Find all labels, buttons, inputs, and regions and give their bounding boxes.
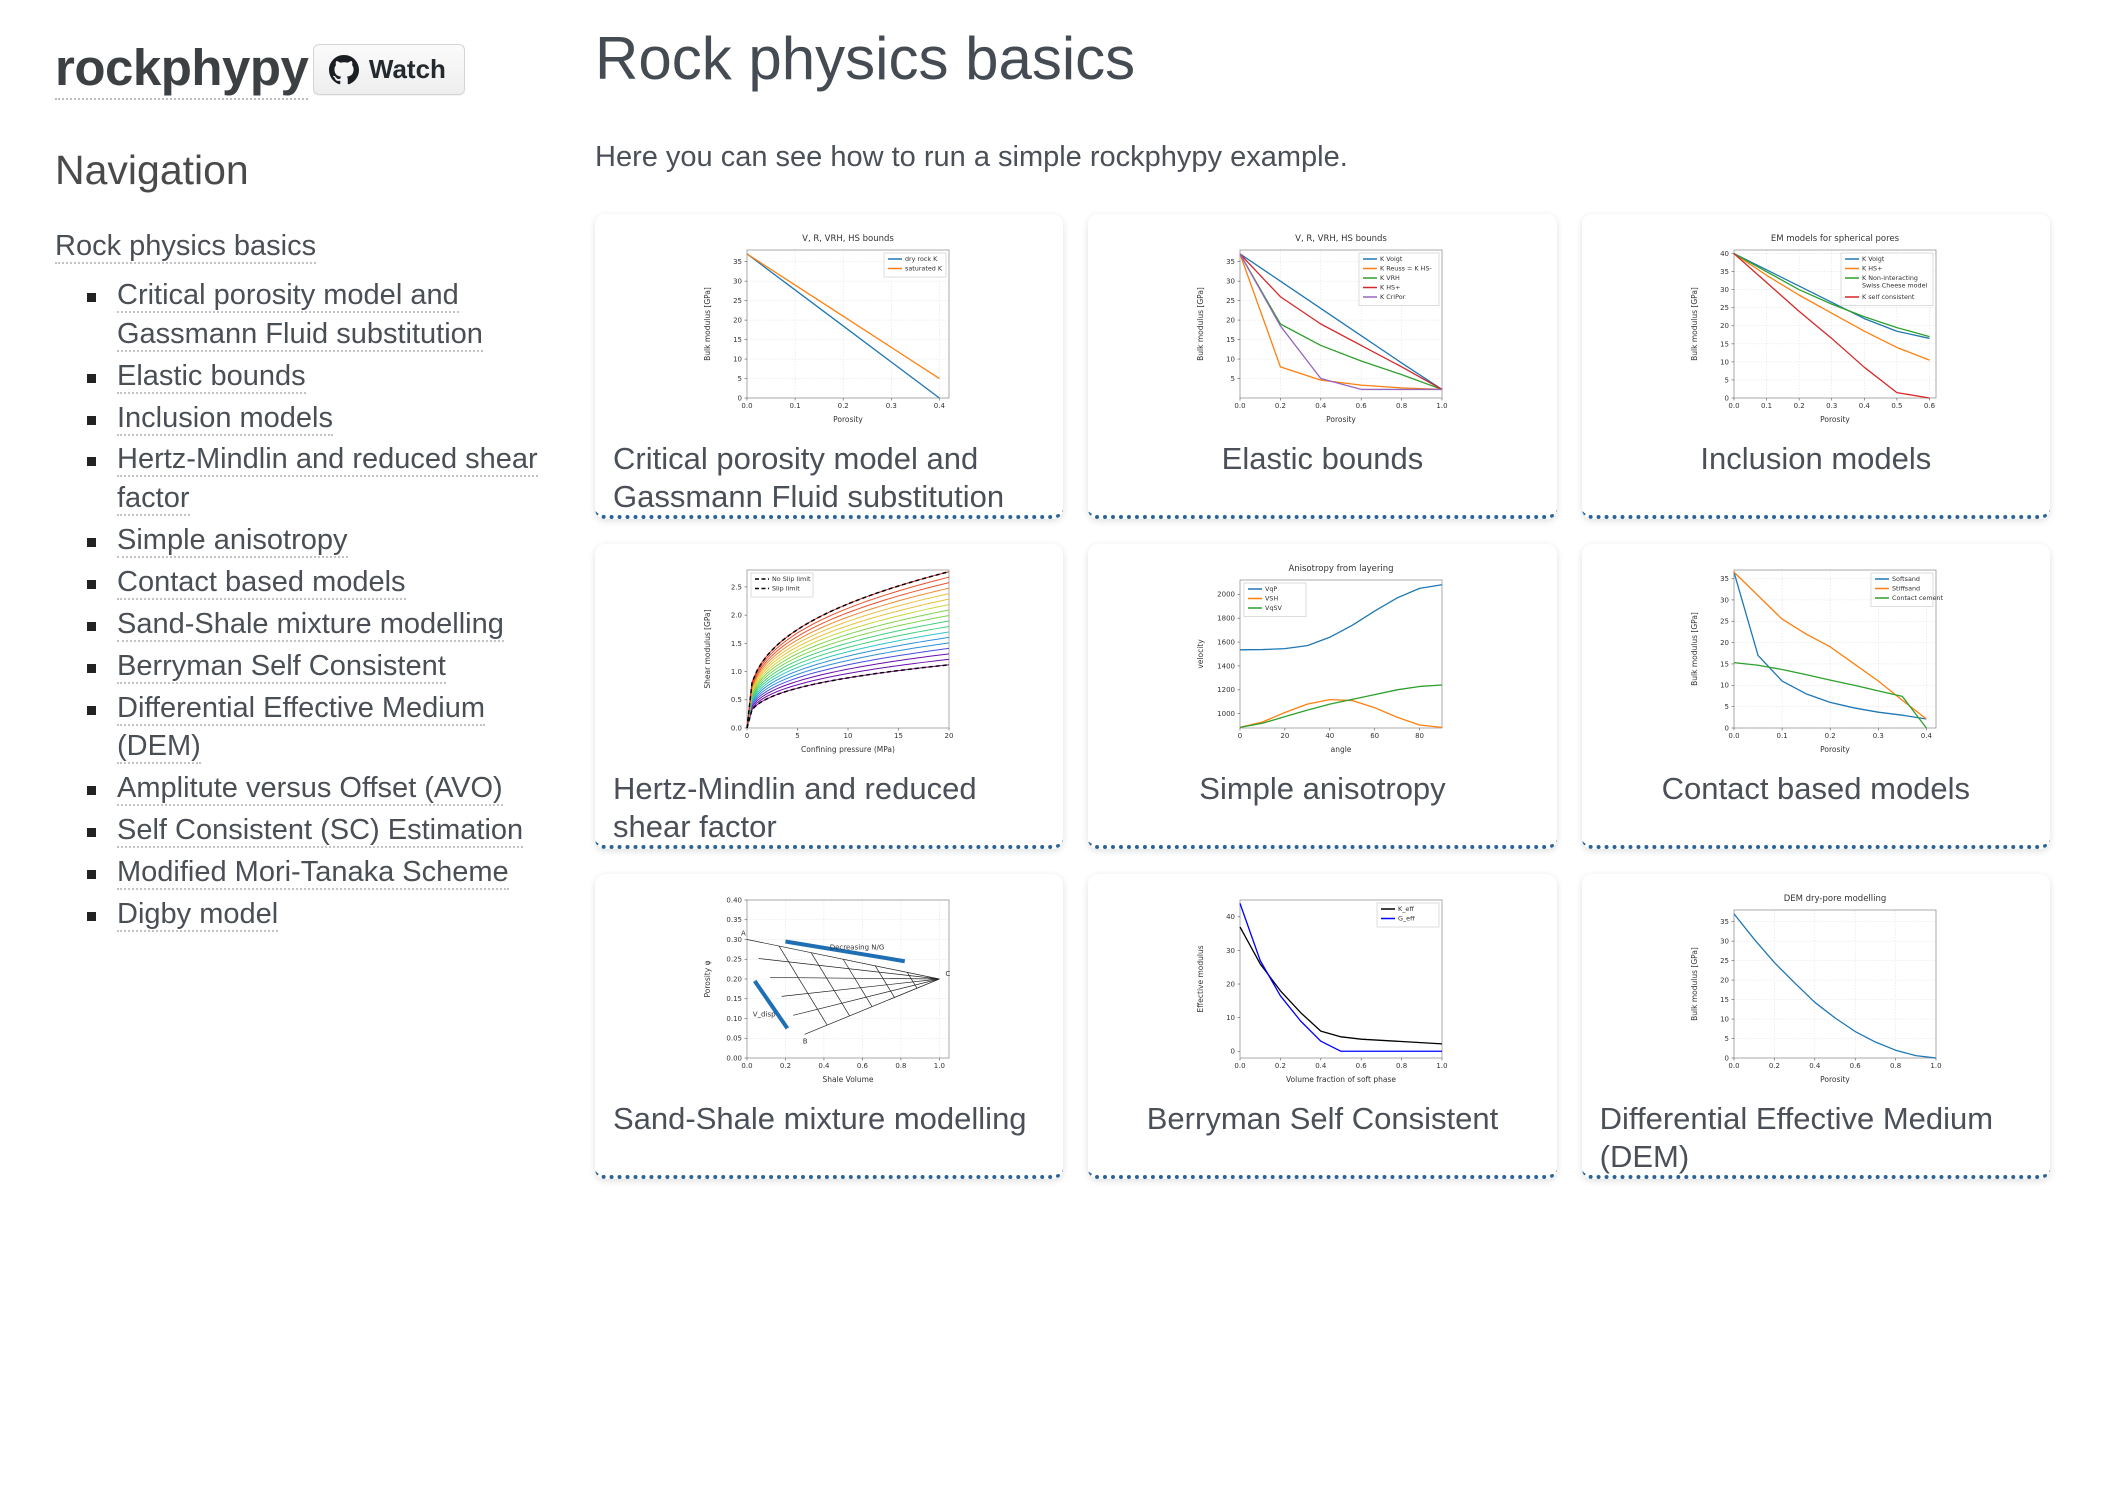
svg-text:VSH: VSH xyxy=(1265,595,1278,603)
svg-text:0.0: 0.0 xyxy=(1728,1062,1739,1070)
svg-text:0.00: 0.00 xyxy=(727,1054,743,1062)
chart-svg: 0.00.20.40.60.81.0010203040Volume fracti… xyxy=(1192,888,1452,1088)
svg-text:20: 20 xyxy=(945,732,954,740)
sidebar: rockphypy Watch Navigation Rock physics … xyxy=(0,0,595,1505)
svg-text:2.0: 2.0 xyxy=(731,612,742,620)
svg-text:0.8: 0.8 xyxy=(1397,402,1408,410)
list-item: Berryman Self Consistent xyxy=(87,647,555,686)
svg-text:0.0: 0.0 xyxy=(1235,402,1246,410)
list-item: Inclusion models xyxy=(87,399,555,438)
card-caption: Berryman Self Consistent xyxy=(1106,1100,1538,1138)
chart-svg: Anisotropy from layering0204060801000120… xyxy=(1192,558,1452,758)
list-item: Hertz-Mindlin and reduced shear factor xyxy=(87,440,555,518)
svg-text:Bulk modulus [GPa]: Bulk modulus [GPa] xyxy=(1690,287,1699,361)
svg-text:0.8: 0.8 xyxy=(1890,1062,1901,1070)
card-thumbnail: DEM dry-pore modelling0.00.20.40.60.81.0… xyxy=(1600,888,2032,1088)
card-caption: Contact based models xyxy=(1600,770,2032,808)
example-card[interactable]: 0.00.20.40.60.81.0010203040Volume fracti… xyxy=(1088,874,1556,1179)
intro-paragraph: Here you can see how to run a simple roc… xyxy=(595,141,2085,174)
svg-text:10: 10 xyxy=(1720,1015,1729,1023)
svg-text:30: 30 xyxy=(1227,278,1236,286)
svg-text:5: 5 xyxy=(1231,375,1235,383)
svg-text:0.0: 0.0 xyxy=(1235,1062,1246,1070)
svg-text:DEM dry-pore modelling: DEM dry-pore modelling xyxy=(1784,894,1887,904)
svg-text:V, R, VRH, HS bounds: V, R, VRH, HS bounds xyxy=(1296,234,1388,244)
svg-text:30: 30 xyxy=(733,278,742,286)
svg-text:30: 30 xyxy=(1227,947,1236,955)
svg-text:0.2: 0.2 xyxy=(838,402,849,410)
svg-text:20: 20 xyxy=(1720,639,1729,647)
svg-text:15: 15 xyxy=(1720,996,1729,1004)
svg-text:Contact cement: Contact cement xyxy=(1892,594,1944,602)
svg-text:C: C xyxy=(946,970,951,978)
svg-text:0.2: 0.2 xyxy=(1275,402,1286,410)
card-caption: Hertz-Mindlin and reduced shear factor xyxy=(613,770,1045,846)
github-watch-button[interactable]: Watch xyxy=(313,44,465,95)
svg-text:35: 35 xyxy=(1720,918,1729,926)
svg-text:0.2: 0.2 xyxy=(1793,402,1804,410)
example-card[interactable]: 0.00.20.40.60.81.00.000.050.100.150.200.… xyxy=(595,874,1063,1179)
svg-text:1200: 1200 xyxy=(1218,686,1236,694)
svg-text:0.4: 0.4 xyxy=(1316,1062,1328,1070)
page-title: Rock physics basics xyxy=(595,24,2085,93)
svg-text:0.25: 0.25 xyxy=(727,956,743,964)
list-item: Differential Effective Medium (DEM) xyxy=(87,689,555,767)
example-card[interactable]: DEM dry-pore modelling0.00.20.40.60.81.0… xyxy=(1582,874,2050,1179)
svg-text:Bulk modulus [GPa]: Bulk modulus [GPa] xyxy=(1690,612,1699,686)
list-item: Digby model xyxy=(87,895,555,934)
svg-text:0.4: 0.4 xyxy=(1809,1062,1821,1070)
svg-text:35: 35 xyxy=(1227,258,1236,266)
svg-text:0.6: 0.6 xyxy=(1356,1062,1368,1070)
chart-svg: 0.00.20.40.60.81.00.000.050.100.150.200.… xyxy=(699,888,959,1088)
card-caption: Critical porosity model and Gassmann Flu… xyxy=(613,440,1045,516)
svg-text:15: 15 xyxy=(894,732,903,740)
list-item: Critical porosity model and Gassmann Flu… xyxy=(87,276,555,354)
chart-svg: EM models for spherical pores0.00.10.20.… xyxy=(1686,228,1946,428)
svg-text:0.1: 0.1 xyxy=(790,402,801,410)
svg-text:0.5: 0.5 xyxy=(731,696,742,704)
svg-text:0: 0 xyxy=(1724,394,1728,402)
svg-text:saturated K: saturated K xyxy=(905,265,943,273)
svg-text:0.2: 0.2 xyxy=(1275,1062,1286,1070)
svg-text:0: 0 xyxy=(745,732,749,740)
svg-text:0.20: 0.20 xyxy=(727,975,743,983)
svg-text:0.6: 0.6 xyxy=(1356,402,1368,410)
svg-text:1.5: 1.5 xyxy=(731,640,742,648)
svg-text:K VRH: K VRH xyxy=(1380,274,1400,282)
main-content: Rock physics basics Here you can see how… xyxy=(595,0,2115,1505)
svg-text:0: 0 xyxy=(738,394,742,402)
svg-text:G_eff: G_eff xyxy=(1398,915,1415,923)
example-card[interactable]: EM models for spherical pores0.00.10.20.… xyxy=(1582,214,2050,519)
navigation-heading: Navigation xyxy=(55,148,555,193)
svg-text:Bulk modulus [GPa]: Bulk modulus [GPa] xyxy=(1690,947,1699,1021)
svg-text:35: 35 xyxy=(1720,575,1729,583)
sidebar-item-contact-based-models[interactable]: Contact based models xyxy=(117,566,406,600)
sidebar-item-critical-porosity-model-and-gassmann-fluid-substitution[interactable]: Critical porosity model and Gassmann Flu… xyxy=(117,279,483,352)
svg-text:Porosity: Porosity xyxy=(1820,745,1850,754)
svg-text:0.40: 0.40 xyxy=(727,896,743,904)
chart-svg: 051015200.00.51.01.52.02.5Confining pres… xyxy=(699,558,959,758)
svg-text:25: 25 xyxy=(1227,297,1236,305)
sidebar-item-simple-anisotropy[interactable]: Simple anisotropy xyxy=(117,524,348,558)
card-thumbnail: V, R, VRH, HS bounds0.00.10.20.30.405101… xyxy=(613,228,1045,428)
svg-text:0.6: 0.6 xyxy=(1924,402,1936,410)
svg-text:Porosity φ: Porosity φ xyxy=(703,960,712,997)
card-caption: Simple anisotropy xyxy=(1106,770,1538,808)
svg-text:2.5: 2.5 xyxy=(731,583,742,591)
svg-text:0.3: 0.3 xyxy=(886,402,897,410)
svg-text:dry rock K: dry rock K xyxy=(905,255,938,263)
svg-text:5: 5 xyxy=(1724,376,1728,384)
svg-text:0.6: 0.6 xyxy=(857,1062,869,1070)
sidebar-item-hertz-mindlin-and-reduced-shear-factor[interactable]: Hertz-Mindlin and reduced shear factor xyxy=(117,443,538,516)
card-thumbnail: V, R, VRH, HS bounds0.00.20.40.60.81.051… xyxy=(1106,228,1538,428)
svg-text:5: 5 xyxy=(1724,703,1728,711)
svg-text:0.4: 0.4 xyxy=(819,1062,831,1070)
svg-text:0.0: 0.0 xyxy=(1728,732,1739,740)
svg-text:10: 10 xyxy=(1227,1014,1236,1022)
chart-svg: 0.00.10.20.30.405101520253035PorosityBul… xyxy=(1686,558,1946,758)
svg-text:0.5: 0.5 xyxy=(1891,402,1902,410)
svg-text:40: 40 xyxy=(1720,250,1729,258)
sidebar-item-differential-effective-medium-dem[interactable]: Differential Effective Medium (DEM) xyxy=(117,692,485,765)
svg-text:Shear modulus [GPa]: Shear modulus [GPa] xyxy=(703,609,712,688)
svg-text:0.0: 0.0 xyxy=(742,1062,753,1070)
svg-text:0.6: 0.6 xyxy=(1849,1062,1861,1070)
svg-text:0.8: 0.8 xyxy=(895,1062,906,1070)
card-thumbnail: 0.00.10.20.30.405101520253035PorosityBul… xyxy=(1600,558,2032,758)
svg-text:35: 35 xyxy=(733,258,742,266)
svg-text:5: 5 xyxy=(795,732,799,740)
svg-text:K HS+: K HS+ xyxy=(1862,265,1882,273)
svg-text:10: 10 xyxy=(1720,358,1729,366)
svg-text:Slip limit: Slip limit xyxy=(772,585,800,593)
sidebar-item-berryman-self-consistent[interactable]: Berryman Self Consistent xyxy=(117,650,446,684)
svg-text:25: 25 xyxy=(1720,304,1729,312)
svg-text:0: 0 xyxy=(1238,732,1242,740)
example-card-grid: V, R, VRH, HS bounds0.00.10.20.30.405101… xyxy=(595,214,2050,1179)
svg-text:1.0: 1.0 xyxy=(1437,402,1448,410)
card-thumbnail: EM models for spherical pores0.00.10.20.… xyxy=(1600,228,2032,428)
svg-text:Porosity: Porosity xyxy=(833,415,863,424)
card-thumbnail: 0.00.20.40.60.81.00.000.050.100.150.200.… xyxy=(613,888,1045,1088)
card-caption: Differential Effective Medium (DEM) xyxy=(1600,1100,2032,1176)
svg-text:VqSV: VqSV xyxy=(1265,604,1282,612)
svg-text:0: 0 xyxy=(1724,1054,1728,1062)
svg-text:K Voigt: K Voigt xyxy=(1380,255,1403,263)
svg-text:10: 10 xyxy=(1720,682,1729,690)
svg-text:B: B xyxy=(803,1037,808,1045)
svg-text:0.0: 0.0 xyxy=(731,724,742,732)
svg-text:0.3: 0.3 xyxy=(1873,732,1884,740)
card-caption: Elastic bounds xyxy=(1106,440,1538,478)
example-card[interactable]: V, R, VRH, HS bounds0.00.20.40.60.81.051… xyxy=(1088,214,1556,519)
svg-text:0.1: 0.1 xyxy=(1776,732,1787,740)
site-brand[interactable]: rockphypy xyxy=(55,41,308,101)
sidebar-item-self-consistent-sc-estimation[interactable]: Self Consistent (SC) Estimation xyxy=(117,814,523,848)
svg-text:V, R, VRH, HS bounds: V, R, VRH, HS bounds xyxy=(802,234,894,244)
svg-text:VqP: VqP xyxy=(1265,585,1277,593)
svg-text:15: 15 xyxy=(1720,340,1729,348)
example-card[interactable]: Anisotropy from layering0204060801000120… xyxy=(1088,544,1556,849)
svg-text:5: 5 xyxy=(738,375,742,383)
svg-text:2000: 2000 xyxy=(1218,591,1236,599)
svg-text:0.2: 0.2 xyxy=(1769,1062,1780,1070)
svg-text:0.2: 0.2 xyxy=(1824,732,1835,740)
sidebar-nav-list: Critical porosity model and Gassmann Flu… xyxy=(55,276,555,934)
svg-text:Porosity: Porosity xyxy=(1820,1075,1850,1084)
sidebar-item-sand-shale-mixture-modelling[interactable]: Sand-Shale mixture modelling xyxy=(117,608,504,642)
svg-text:Shale Volume: Shale Volume xyxy=(823,1075,874,1084)
example-card[interactable]: V, R, VRH, HS bounds0.00.10.20.30.405101… xyxy=(595,214,1063,519)
svg-text:0: 0 xyxy=(1724,724,1728,732)
sidebar-item-elastic-bounds[interactable]: Elastic bounds xyxy=(117,360,306,394)
example-card[interactable]: 0.00.10.20.30.405101520253035PorosityBul… xyxy=(1582,544,2050,849)
svg-text:0.10: 0.10 xyxy=(727,1015,743,1023)
card-caption: Sand-Shale mixture modelling xyxy=(613,1100,1045,1138)
svg-text:1.0: 1.0 xyxy=(934,1062,945,1070)
svg-text:15: 15 xyxy=(733,336,742,344)
svg-text:20: 20 xyxy=(1227,317,1236,325)
svg-text:1.0: 1.0 xyxy=(731,668,742,676)
svg-text:0.1: 0.1 xyxy=(1761,402,1772,410)
svg-text:10: 10 xyxy=(844,732,853,740)
svg-text:Porosity: Porosity xyxy=(1820,415,1850,424)
page-root: rockphypy Watch Navigation Rock physics … xyxy=(0,0,2115,1505)
svg-text:1000: 1000 xyxy=(1218,710,1236,718)
svg-text:80: 80 xyxy=(1416,732,1425,740)
svg-text:EM models for spherical pores: EM models for spherical pores xyxy=(1771,234,1900,244)
svg-text:1600: 1600 xyxy=(1218,638,1236,646)
svg-text:20: 20 xyxy=(1281,732,1290,740)
svg-text:0.30: 0.30 xyxy=(727,936,743,944)
card-caption: Inclusion models xyxy=(1600,440,2032,478)
svg-text:K CriPor: K CriPor xyxy=(1380,293,1406,301)
svg-text:15: 15 xyxy=(1720,660,1729,668)
svg-text:0.4: 0.4 xyxy=(934,402,946,410)
svg-text:0.3: 0.3 xyxy=(1826,402,1837,410)
svg-text:25: 25 xyxy=(733,297,742,305)
svg-text:K Voigt: K Voigt xyxy=(1862,255,1885,263)
example-card[interactable]: 051015200.00.51.01.52.02.5Confining pres… xyxy=(595,544,1063,849)
svg-text:35: 35 xyxy=(1720,268,1729,276)
svg-text:20: 20 xyxy=(1720,977,1729,985)
card-thumbnail: 0.00.20.40.60.81.0010203040Volume fracti… xyxy=(1106,888,1538,1088)
svg-text:Volume fraction of soft phase: Volume fraction of soft phase xyxy=(1286,1075,1396,1084)
svg-text:K HS+: K HS+ xyxy=(1380,284,1400,292)
sidebar-item-inclusion-models[interactable]: Inclusion models xyxy=(117,402,333,436)
svg-text:0.0: 0.0 xyxy=(742,402,753,410)
svg-text:0.2: 0.2 xyxy=(780,1062,791,1070)
nav-root-link-wrap: Rock physics basics xyxy=(55,227,555,266)
svg-text:40: 40 xyxy=(1227,913,1236,921)
svg-text:0.4: 0.4 xyxy=(1316,402,1328,410)
svg-text:0.15: 0.15 xyxy=(727,995,743,1003)
svg-text:60: 60 xyxy=(1371,732,1380,740)
svg-text:20: 20 xyxy=(733,317,742,325)
chart-svg: V, R, VRH, HS bounds0.00.10.20.30.405101… xyxy=(699,228,959,428)
svg-text:Anisotropy from layering: Anisotropy from layering xyxy=(1289,564,1394,574)
github-icon xyxy=(329,55,359,85)
svg-text:0.4: 0.4 xyxy=(1859,402,1871,410)
svg-text:No Slip limit: No Slip limit xyxy=(772,575,811,583)
card-thumbnail: 051015200.00.51.01.52.02.5Confining pres… xyxy=(613,558,1045,758)
svg-text:A: A xyxy=(741,930,746,938)
chart-svg: V, R, VRH, HS bounds0.00.20.40.60.81.051… xyxy=(1192,228,1452,428)
svg-text:1800: 1800 xyxy=(1218,615,1236,623)
svg-text:V_disp: V_disp xyxy=(753,1011,776,1019)
svg-text:Effective modulus: Effective modulus xyxy=(1196,945,1205,1012)
svg-text:25: 25 xyxy=(1720,618,1729,626)
svg-text:Bulk modulus [GPa]: Bulk modulus [GPa] xyxy=(703,287,712,361)
svg-text:40: 40 xyxy=(1326,732,1335,740)
svg-text:0.05: 0.05 xyxy=(727,1035,743,1043)
svg-text:5: 5 xyxy=(1724,1035,1728,1043)
list-item: Modified Mori-Tanaka Scheme xyxy=(87,853,555,892)
svg-text:Porosity: Porosity xyxy=(1327,415,1357,424)
svg-text:angle: angle xyxy=(1331,745,1352,754)
list-item: Amplitute versus Offset (AVO) xyxy=(87,769,555,808)
sidebar-item-modified-mori-tanaka-scheme[interactable]: Modified Mori-Tanaka Scheme xyxy=(117,856,509,890)
svg-text:20: 20 xyxy=(1720,322,1729,330)
svg-text:0: 0 xyxy=(1231,1048,1235,1056)
svg-text:0.0: 0.0 xyxy=(1728,402,1739,410)
list-item: Contact based models xyxy=(87,563,555,602)
sidebar-item-rock-physics-basics[interactable]: Rock physics basics xyxy=(55,230,316,264)
svg-text:1.0: 1.0 xyxy=(1437,1062,1448,1070)
svg-text:Bulk modulus [GPa]: Bulk modulus [GPa] xyxy=(1196,287,1205,361)
svg-text:0.8: 0.8 xyxy=(1397,1062,1408,1070)
svg-text:Softsand: Softsand xyxy=(1892,575,1920,583)
list-item: Sand-Shale mixture modelling xyxy=(87,605,555,644)
svg-text:25: 25 xyxy=(1720,957,1729,965)
list-item: Self Consistent (SC) Estimation xyxy=(87,811,555,850)
svg-text:0.4: 0.4 xyxy=(1921,732,1933,740)
svg-text:10: 10 xyxy=(733,355,742,363)
svg-text:10: 10 xyxy=(1227,355,1236,363)
svg-text:K_eff: K_eff xyxy=(1398,905,1414,913)
svg-text:1.0: 1.0 xyxy=(1930,1062,1941,1070)
list-item: Elastic bounds xyxy=(87,357,555,396)
svg-text:1400: 1400 xyxy=(1218,662,1236,670)
chart-svg: DEM dry-pore modelling0.00.20.40.60.81.0… xyxy=(1686,888,1946,1088)
svg-text:velocity: velocity xyxy=(1196,639,1205,669)
svg-text:30: 30 xyxy=(1720,938,1729,946)
svg-text:K self consistent: K self consistent xyxy=(1862,293,1915,301)
svg-text:15: 15 xyxy=(1227,336,1236,344)
svg-text:Stiffsand: Stiffsand xyxy=(1892,585,1920,593)
card-thumbnail: Anisotropy from layering0204060801000120… xyxy=(1106,558,1538,758)
svg-text:20: 20 xyxy=(1227,980,1236,988)
svg-text:30: 30 xyxy=(1720,286,1729,294)
sidebar-item-digby-model[interactable]: Digby model xyxy=(117,898,278,932)
sidebar-item-amplitute-versus-offset-avo[interactable]: Amplitute versus Offset (AVO) xyxy=(117,772,503,806)
svg-text:Confining pressure (MPa): Confining pressure (MPa) xyxy=(801,745,895,754)
watch-button-label: Watch xyxy=(369,54,446,85)
svg-text:Decreasing N/G: Decreasing N/G xyxy=(830,943,885,951)
svg-text:0.35: 0.35 xyxy=(727,916,743,924)
svg-text:Swiss Cheese model: Swiss Cheese model xyxy=(1862,282,1928,290)
svg-text:K Reuss = K HS-: K Reuss = K HS- xyxy=(1380,265,1432,273)
svg-text:30: 30 xyxy=(1720,596,1729,604)
list-item: Simple anisotropy xyxy=(87,521,555,560)
